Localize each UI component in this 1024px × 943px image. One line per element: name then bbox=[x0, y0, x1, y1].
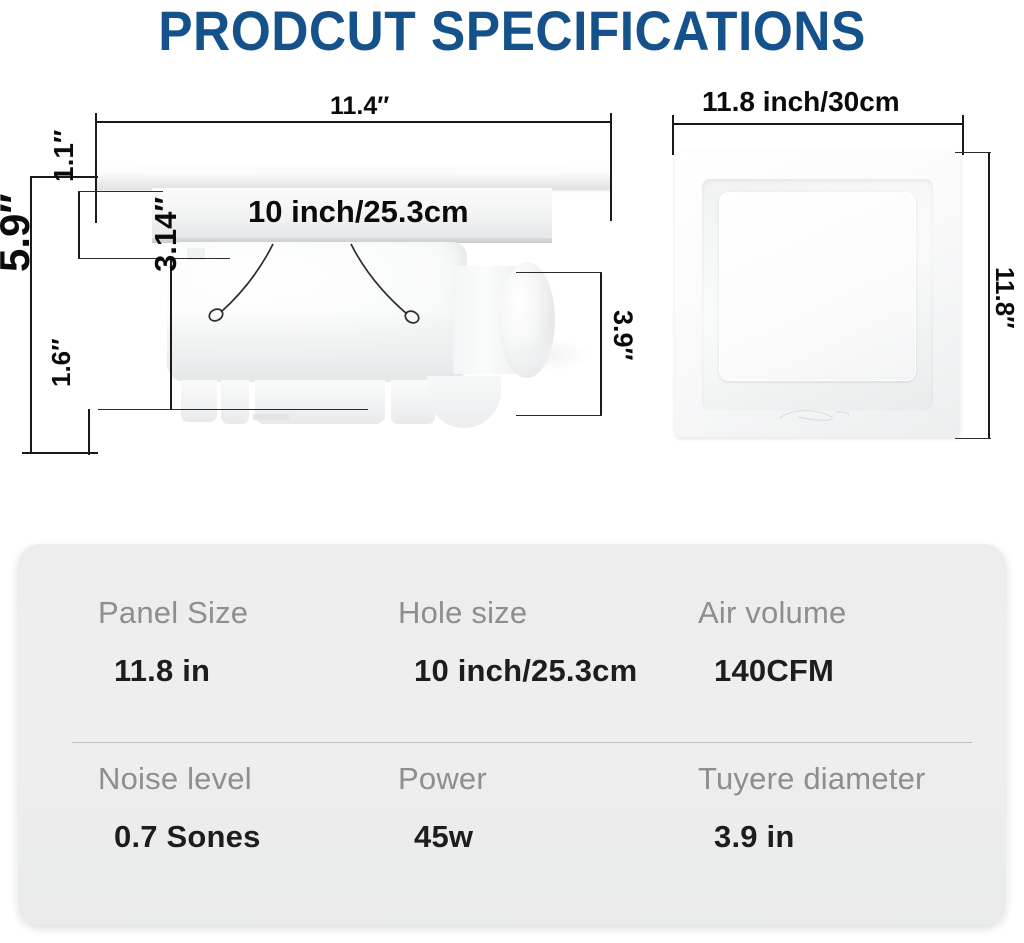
spec-value: 45w bbox=[398, 819, 473, 855]
spring-mounting-clips-icon bbox=[155, 238, 485, 378]
dim-tick-panel-width-right bbox=[962, 115, 964, 155]
brand-logo-icon bbox=[776, 407, 860, 423]
spec-row-1: Panel Size 11.8 in Hole size 10 inch/25.… bbox=[72, 595, 972, 689]
dim-panel-width-label: 11.8 inch/30cm bbox=[702, 88, 900, 116]
spec-cell-hole-size: Hole size 10 inch/25.3cm bbox=[372, 595, 672, 689]
dim-tick-duct-top bbox=[516, 272, 602, 273]
spec-label: Tuyere diameter bbox=[698, 761, 926, 797]
spec-value: 3.9 in bbox=[698, 819, 794, 855]
spec-label: Power bbox=[398, 761, 487, 797]
spec-label: Hole size bbox=[398, 595, 527, 631]
motor-cover bbox=[427, 376, 501, 428]
panel-center-grille bbox=[719, 192, 916, 381]
dim-tick-panel-height-bottom bbox=[955, 438, 991, 439]
spec-cell-panel-size: Panel Size 11.8 in bbox=[72, 595, 372, 689]
spec-value: 10 inch/25.3cm bbox=[398, 653, 637, 689]
spec-row-divider bbox=[72, 742, 972, 743]
product-dimension-diagram: 10 inch/25.3cm 11.4″ 5.9″ 1.1″ 3.14″ 1.6… bbox=[0, 72, 1024, 492]
dim-tick-duct-bottom bbox=[516, 415, 602, 416]
page-title: PRODCUT SPECIFICATIONS bbox=[41, 2, 983, 61]
fan-front-view bbox=[675, 152, 960, 437]
housing-foot bbox=[181, 380, 217, 422]
dim-flange-height-label: 1.1″ bbox=[50, 130, 78, 182]
dim-overall-width-label: 11.4″ bbox=[330, 94, 389, 119]
spec-label: Air volume bbox=[698, 595, 846, 631]
dim-line-flange-height bbox=[78, 191, 80, 259]
spec-cell-air-volume: Air volume 140CFM bbox=[672, 595, 972, 689]
dim-tick-width-left bbox=[95, 113, 97, 223]
dim-tick-panel-height-top bbox=[955, 152, 991, 153]
housing-seam bbox=[253, 414, 289, 420]
spec-value: 0.7 Sones bbox=[98, 819, 261, 855]
dim-line-housing-height bbox=[170, 258, 172, 410]
dim-tick-panel-width-left bbox=[672, 115, 674, 155]
spec-value: 11.8 in bbox=[98, 653, 210, 689]
spec-cell-power: Power 45w bbox=[372, 761, 672, 855]
spec-value: 140CFM bbox=[698, 653, 834, 689]
spec-row-2: Noise level 0.7 Sones Power 45w Tuyere d… bbox=[72, 761, 972, 855]
housing-foot bbox=[221, 380, 249, 424]
dim-panel-height-label: 11.8″ bbox=[992, 267, 1018, 329]
dim-line-overall-width bbox=[95, 121, 610, 123]
dim-line-foot-height bbox=[88, 409, 90, 455]
dim-tick-housing-bottom bbox=[98, 409, 368, 410]
dim-line-duct-diameter bbox=[600, 272, 602, 416]
duct-shadow bbox=[495, 338, 591, 372]
dim-duct-diameter-label: 3.9″ bbox=[609, 310, 636, 360]
dim-housing-height-label: 3.14″ bbox=[150, 197, 181, 272]
dim-tick-width-right bbox=[610, 113, 612, 221]
spec-label: Panel Size bbox=[98, 595, 248, 631]
trim-flange bbox=[95, 162, 610, 190]
spec-cell-noise-level: Noise level 0.7 Sones bbox=[72, 761, 372, 855]
dim-line-panel-width bbox=[672, 123, 962, 125]
dim-overall-height-label: 5.9″ bbox=[0, 193, 36, 272]
dim-hole-size-callout: 10 inch/25.3cm bbox=[248, 196, 469, 227]
spec-label: Noise level bbox=[98, 761, 252, 797]
dim-foot-height-label: 1.6″ bbox=[48, 338, 74, 387]
specifications-card: Panel Size 11.8 in Hole size 10 inch/25.… bbox=[18, 543, 1006, 925]
spec-cell-tuyere-diameter: Tuyere diameter 3.9 in bbox=[672, 761, 972, 855]
dim-tick-flange-top bbox=[78, 191, 163, 192]
dim-tick-overall-bottom bbox=[22, 452, 98, 454]
